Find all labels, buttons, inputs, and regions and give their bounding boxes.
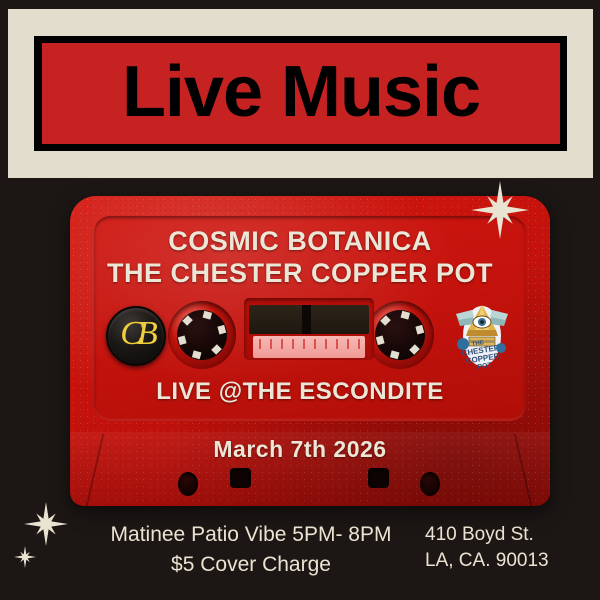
roller-tick [314,339,316,349]
spool-tooth [182,315,193,326]
tape-reel-strip [249,305,369,334]
roller-tick [358,339,360,349]
ccp-text-pot: POT [477,362,493,371]
tape-gap [302,305,311,334]
show-details: Matinee Patio Vibe 5PM- 8PM $5 Cover Cha… [86,520,416,580]
left-tape-spool [168,301,236,369]
spool-tooth [192,350,202,359]
venue-address: 410 Boyd St. LA, CA. 90013 [425,522,590,574]
spool-tooth [401,311,411,320]
spool-tooth [178,336,187,346]
address-street: 410 Boyd St. [425,522,590,548]
cassette-hole-round-left [178,472,198,496]
cassette-hole-square-right [368,468,389,488]
roller-tick [292,339,294,349]
left-spool-core [177,310,227,360]
banner-black-frame: Live Music [34,36,567,151]
roller-tick [347,339,349,349]
event-date: March 7th 2026 [0,436,600,463]
spool-tooth [376,336,385,346]
spool-tooth [211,344,222,355]
cb-monogram: CB [120,317,151,351]
gig-poster: Live Music COSMIC BOTANICA THE CHESTER C… [0,0,600,600]
cosmic-botanica-badge: CB [106,306,166,366]
headliner-name: COSMIC BOTANICA [0,226,600,257]
cassette-hole-round-right [420,472,440,496]
roller-tick [270,339,272,349]
cassette-hole-square-left [230,468,251,488]
cover-charge-line: $5 Cover Charge [86,550,416,580]
chester-copper-pot-artwork: THE CHESTER COPPER POT [454,296,510,372]
spool-tooth [390,350,400,359]
address-city: LA, CA. 90013 [425,548,590,574]
show-time-line: Matinee Patio Vibe 5PM- 8PM [86,520,416,550]
tape-window [244,298,374,360]
spool-tooth [409,344,420,355]
spool-tooth [380,315,391,326]
pinch-roller [253,336,365,358]
banner-title: Live Music [122,56,480,128]
banner-red-field: Live Music [42,43,560,144]
poster-footer: Matinee Patio Vibe 5PM- 8PM $5 Cover Cha… [0,514,600,600]
venue-line: LIVE @THE ESCONDITE [0,378,600,406]
roller-tick [281,339,283,349]
right-tape-spool [366,301,434,369]
roller-tick [336,339,338,349]
roller-tick [325,339,327,349]
chester-copper-pot-badge: THE CHESTER COPPER POT [454,296,510,372]
spool-tooth [217,325,226,335]
spool-tooth [415,325,424,335]
support-act-name: THE CHESTER COPPER POT [0,258,600,289]
right-spool-core [375,310,425,360]
roller-tick [259,339,261,349]
live-music-banner: Live Music [8,9,593,178]
roller-tick [303,339,305,349]
spool-tooth [203,311,213,320]
